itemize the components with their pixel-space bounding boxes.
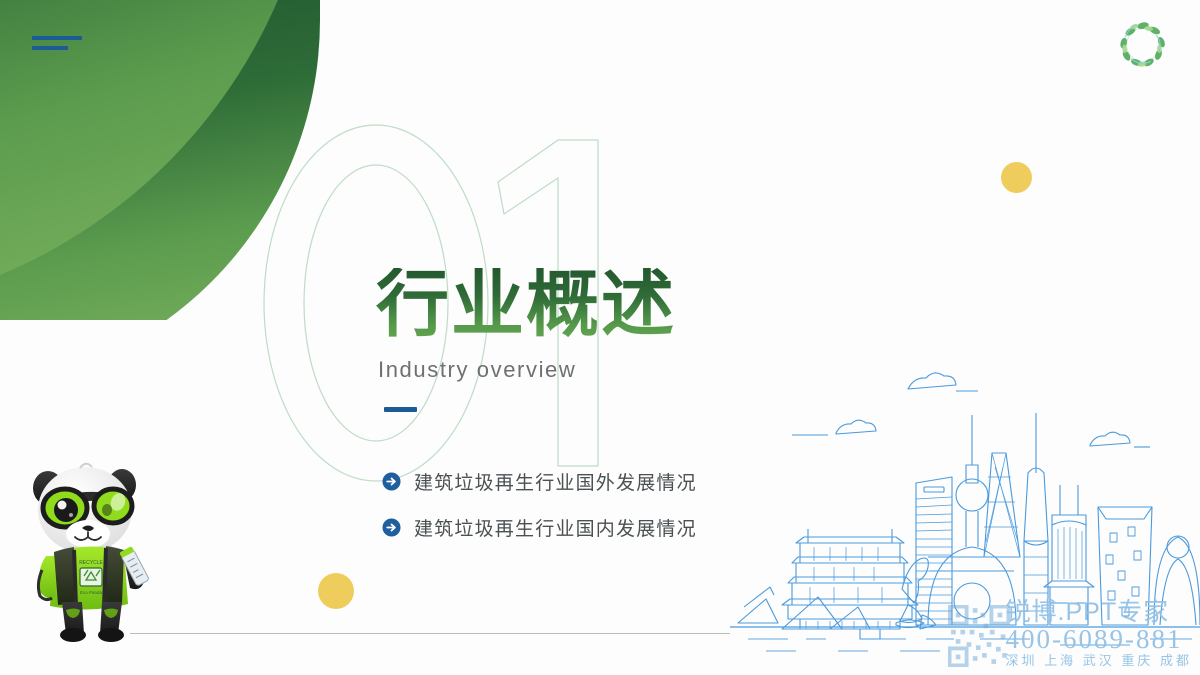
page-title: 行业概述 (376, 268, 896, 341)
watermark-brand: 锐博.PPT专家 (1006, 599, 1192, 625)
qr-code-icon (948, 605, 1010, 667)
panda-mascot: RECYCLE Eco Panda (18, 452, 178, 642)
title-accent-line (384, 407, 417, 412)
page-subtitle: Industry overview (378, 357, 896, 383)
bottom-divider (130, 633, 730, 634)
bullet-list: 建筑垃圾再生行业国外发展情况 建筑垃圾再生行业国内发展情况 (382, 468, 697, 560)
presentation-slide: 行业概述 Industry overview 建筑垃圾再生行业国外发展情况 (0, 0, 1200, 675)
watermark-phone: 400-6089-881 (1006, 625, 1192, 653)
accent-line-top (32, 36, 82, 40)
list-item-label: 建筑垃圾再生行业国外发展情况 (414, 468, 697, 495)
list-item[interactable]: 建筑垃圾再生行业国外发展情况 (382, 468, 697, 495)
arrow-circle-icon (382, 518, 401, 537)
leaf-wreath-logo (1114, 16, 1172, 74)
watermark: 锐博.PPT专家 400-6089-881 深圳 上海 武汉 重庆 成都 (1006, 599, 1192, 669)
arrow-circle-icon (382, 472, 401, 491)
yellow-dot-right (1001, 162, 1032, 193)
blue-accent-lines (32, 36, 82, 56)
watermark-cities: 深圳 上海 武汉 重庆 成都 (1006, 653, 1192, 669)
svg-text:RECYCLE: RECYCLE (79, 560, 103, 566)
title-block: 行业概述 Industry overview (376, 268, 896, 412)
yellow-dot-left (318, 573, 354, 609)
svg-text:Eco Panda: Eco Panda (80, 590, 103, 595)
list-item[interactable]: 建筑垃圾再生行业国内发展情况 (382, 514, 697, 541)
list-item-label: 建筑垃圾再生行业国内发展情况 (414, 514, 697, 541)
accent-line-bottom (32, 46, 68, 50)
